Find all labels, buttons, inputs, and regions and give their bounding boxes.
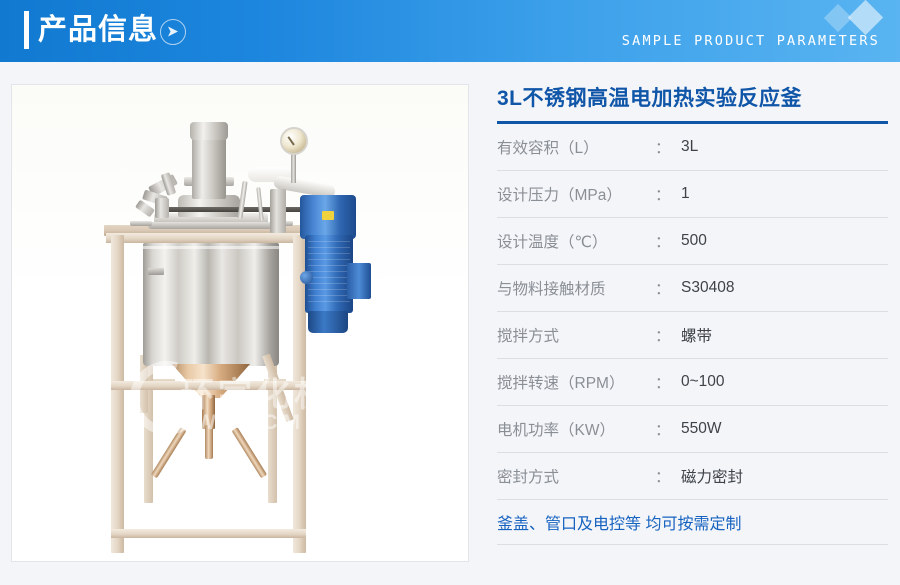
table-row: 有效容积（L） ： 3L [497, 124, 888, 171]
table-row: 密封方式 ： 磁力密封 [497, 453, 888, 500]
watermark: 环宇化机 WHGCM ® [130, 355, 370, 451]
side-control-pillar [270, 189, 286, 233]
tripod-leg-left [151, 427, 187, 478]
table-row: 设计温度（℃） ： 500 [497, 218, 888, 265]
spec-value: 500 [681, 232, 707, 250]
spec-colon: ： [655, 230, 681, 252]
spec-value: 1 [681, 185, 690, 203]
pressure-gauge-icon [280, 127, 308, 155]
circle-arrow-right-icon[interactable] [160, 19, 186, 45]
product-info-page: 产品信息 SAMPLE PRODUCT PARAMETERS [0, 0, 900, 585]
page-title: 产品信息 [38, 11, 158, 49]
vessel-side-tab [148, 268, 164, 275]
motor-nameplate-label [322, 211, 334, 220]
spec-panel: 3L不锈钢高温电加热实验反应釜 有效容积（L） ： 3L 设计压力（MPa） ：… [497, 84, 888, 545]
spec-label: 设计压力（MPa） [497, 183, 655, 205]
table-row: 搅拌转速（RPM） ： 0~100 [497, 359, 888, 406]
table-row: 电机功率（KW） ： 550W [497, 406, 888, 453]
spec-value: 3L [681, 138, 698, 156]
spec-colon: ： [655, 418, 681, 440]
stand-rail-lower [111, 529, 306, 538]
tripod-center-post [205, 425, 213, 459]
spec-colon: ： [655, 324, 681, 346]
spec-label: 有效容积（L） [497, 136, 655, 158]
motor-shaft-knob [300, 271, 313, 284]
reactor-illustration: 环宇化机 WHGCM ® [12, 85, 469, 562]
motor-fan-cover [308, 311, 348, 333]
spec-colon: ： [655, 277, 681, 299]
stand-rail-middle [111, 381, 306, 390]
spec-table: 有效容积（L） ： 3L 设计压力（MPa） ： 1 设计温度（℃） ： 500… [497, 124, 888, 545]
vessel-handle-left [130, 221, 152, 226]
spec-value: 550W [681, 420, 722, 438]
table-row: 搅拌方式 ： 螺带 [497, 312, 888, 359]
spec-value: S30408 [681, 279, 734, 297]
spec-colon: ： [655, 465, 681, 487]
spec-label: 密封方式 [497, 465, 655, 487]
pressure-gauge-stem [291, 153, 296, 183]
page-header: 产品信息 SAMPLE PRODUCT PARAMETERS [0, 0, 900, 62]
spec-colon: ： [655, 136, 681, 158]
spec-colon: ： [655, 371, 681, 393]
stand-leg-front-left [111, 235, 124, 553]
product-photo: 环宇化机 WHGCM ® [12, 85, 468, 561]
diamond-decor-right [848, 0, 883, 35]
drain-pipe [202, 395, 215, 429]
spec-label: 搅拌方式 [497, 324, 655, 346]
header-subtitle-en: SAMPLE PRODUCT PARAMETERS [622, 33, 880, 49]
reactor-vessel-body [143, 243, 279, 366]
watermark-registered-icon: ® [328, 415, 335, 426]
spec-colon: ： [655, 183, 681, 205]
spec-label: 与物料接触材质 [497, 277, 655, 299]
motor-cooling-fins [308, 241, 350, 305]
agitator-shaft-cap [190, 122, 228, 140]
tripod-leg-right [232, 427, 268, 478]
table-row: 设计压力（MPa） ： 1 [497, 171, 888, 218]
customization-note: 釜盖、管口及电控等 均可按需定制 [497, 500, 888, 545]
title-accent-bar [24, 11, 29, 49]
table-row: 与物料接触材质 ： S30408 [497, 265, 888, 312]
product-title: 3L不锈钢高温电加热实验反应釜 [497, 84, 888, 121]
valve-3 [155, 198, 169, 218]
spec-value: 磁力密封 [681, 465, 743, 487]
magnetic-seal-housing [192, 137, 226, 199]
vessel-top-band [143, 246, 279, 249]
spec-label: 设计温度（℃） [497, 230, 655, 252]
stand-rail-top [106, 233, 311, 243]
motor-terminal-box [347, 263, 371, 299]
product-image-panel[interactable]: 环宇化机 WHGCM ® [11, 84, 469, 562]
spec-label: 搅拌转速（RPM） [497, 371, 655, 393]
content-area: 环宇化机 WHGCM ® 3L不锈钢高温电加热实验反应釜 有效容积（L） ： 3… [0, 62, 900, 585]
spec-label: 电机功率（KW） [497, 418, 655, 440]
spec-value: 螺带 [681, 324, 712, 346]
spec-value: 0~100 [681, 373, 725, 391]
reactor-flange-rim [148, 222, 274, 229]
